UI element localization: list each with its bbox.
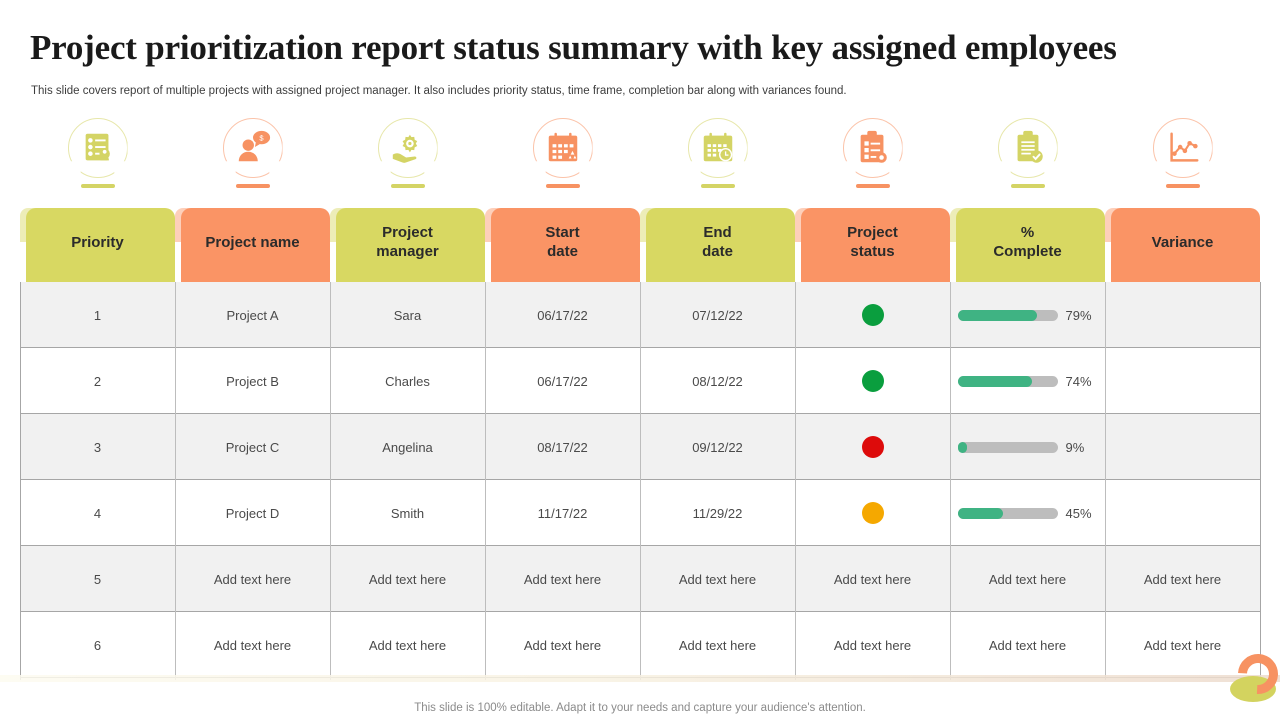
cell-project-name: Add text here <box>175 546 330 612</box>
cell-percent-complete: Add text here <box>950 546 1105 612</box>
gear-in-hand-icon <box>389 129 427 167</box>
icon-cell-7 <box>950 118 1105 200</box>
cell-percent-complete: 45% <box>950 480 1105 546</box>
icon-cell-1 <box>20 118 175 200</box>
line-chart-icon <box>1164 129 1202 167</box>
column-divider <box>640 282 641 680</box>
document-list-icon-circle <box>68 118 128 178</box>
column-header-label: Priority <box>65 234 130 253</box>
status-dot-amber <box>862 502 884 524</box>
cell-variance <box>1105 282 1260 348</box>
cell-percent-complete: 79% <box>950 282 1105 348</box>
cell-project-name: Project A <box>175 282 330 348</box>
cell-start-date: 06/17/22 <box>485 282 640 348</box>
icon-cell-6 <box>795 118 950 200</box>
slide-root: Project prioritization report status sum… <box>0 0 1280 720</box>
icon-underline-bar <box>856 184 890 188</box>
clipboard-approved-icon <box>1009 129 1047 167</box>
column-header-label: Variance <box>1146 234 1220 253</box>
cell-variance <box>1105 414 1260 480</box>
column-header-label: Project name <box>199 234 305 253</box>
cell-start-date: 08/17/22 <box>485 414 640 480</box>
icon-cell-4 <box>485 118 640 200</box>
calendar-clock-icon-circle <box>688 118 748 178</box>
column-header-label: Project status <box>841 224 904 262</box>
cell-priority: 6 <box>20 612 175 678</box>
calendar-clock-icon <box>699 129 737 167</box>
cell-priority: 1 <box>20 282 175 348</box>
column-header-5[interactable]: End date <box>640 204 795 282</box>
column-divider <box>1260 282 1261 680</box>
page-subtitle: This slide covers report of multiple pro… <box>31 85 1251 97</box>
document-list-icon <box>79 129 117 167</box>
calendar-icon-circle <box>533 118 593 178</box>
cell-project-status <box>795 480 950 546</box>
cell-variance <box>1105 480 1260 546</box>
cell-start-date: 11/17/22 <box>485 480 640 546</box>
progress-bar-fill <box>958 442 967 453</box>
icon-underline-bar <box>391 184 425 188</box>
progress-bar-fill <box>958 310 1037 321</box>
status-dot-green <box>862 370 884 392</box>
progress-bar-track <box>958 508 1058 519</box>
column-header-label: Start date <box>539 224 585 262</box>
cell-priority: 4 <box>20 480 175 546</box>
table-body: 1Project ASara06/17/2207/12/2279%2Projec… <box>20 282 1260 680</box>
icon-underline-bar <box>1011 184 1045 188</box>
icon-underline-bar <box>81 184 115 188</box>
cell-priority: 3 <box>20 414 175 480</box>
column-header-3[interactable]: Project manager <box>330 204 485 282</box>
cell-project-manager: Add text here <box>330 612 485 678</box>
cell-project-name: Project C <box>175 414 330 480</box>
progress-bar-group: 45% <box>958 506 1098 521</box>
clipboard-approved-icon-circle <box>998 118 1058 178</box>
column-header-2[interactable]: Project name <box>175 204 330 282</box>
progress-bar-percent-label: 74% <box>1066 374 1098 389</box>
cell-project-manager: Charles <box>330 348 485 414</box>
cell-percent-complete: 74% <box>950 348 1105 414</box>
cell-project-manager: Smith <box>330 480 485 546</box>
cell-percent-complete: 9% <box>950 414 1105 480</box>
line-chart-icon-circle <box>1153 118 1213 178</box>
column-divider <box>175 282 176 680</box>
cell-project-name: Project D <box>175 480 330 546</box>
cell-start-date: 06/17/22 <box>485 348 640 414</box>
cell-end-date: 11/29/22 <box>640 480 795 546</box>
bottom-band-decoration <box>0 675 1280 682</box>
icon-cell-8 <box>1105 118 1260 200</box>
cell-project-status <box>795 348 950 414</box>
cell-priority: 5 <box>20 546 175 612</box>
cell-start-date: Add text here <box>485 546 640 612</box>
gear-in-hand-icon-circle <box>378 118 438 178</box>
progress-bar-group: 74% <box>958 374 1098 389</box>
cell-project-manager: Sara <box>330 282 485 348</box>
progress-bar-fill <box>958 508 1003 519</box>
cell-project-name: Project B <box>175 348 330 414</box>
cell-end-date: 08/12/22 <box>640 348 795 414</box>
progress-bar-percent-label: 45% <box>1066 506 1098 521</box>
table-header-row: PriorityProject nameProject managerStart… <box>20 204 1260 282</box>
cell-project-name: Add text here <box>175 612 330 678</box>
column-header-6[interactable]: Project status <box>795 204 950 282</box>
cell-project-status <box>795 414 950 480</box>
icon-cell-2: $ <box>175 118 330 200</box>
icon-underline-bar <box>546 184 580 188</box>
icon-cell-5 <box>640 118 795 200</box>
progress-bar-group: 9% <box>958 440 1098 455</box>
column-divider <box>485 282 486 680</box>
column-header-label: % Complete <box>987 224 1067 262</box>
cell-variance: Add text here <box>1105 612 1260 678</box>
icon-underline-bar <box>1166 184 1200 188</box>
icon-underline-bar <box>701 184 735 188</box>
cell-project-manager: Angelina <box>330 414 485 480</box>
icon-cell-3 <box>330 118 485 200</box>
status-dot-red <box>862 436 884 458</box>
cell-end-date: 09/12/22 <box>640 414 795 480</box>
column-header-1[interactable]: Priority <box>20 204 175 282</box>
cell-variance <box>1105 348 1260 414</box>
cell-end-date: Add text here <box>640 612 795 678</box>
cell-project-status: Add text here <box>795 612 950 678</box>
column-header-4[interactable]: Start date <box>485 204 640 282</box>
column-divider <box>1105 282 1106 680</box>
icon-underline-bar <box>236 184 270 188</box>
column-header-7[interactable]: % Complete <box>950 204 1105 282</box>
slide-footer-note: This slide is 100% editable. Adapt it to… <box>0 702 1280 714</box>
progress-bar-percent-label: 9% <box>1066 440 1098 455</box>
cell-end-date: 07/12/22 <box>640 282 795 348</box>
cell-priority: 2 <box>20 348 175 414</box>
person-idea-icon: $ <box>234 129 272 167</box>
status-dot-green <box>862 304 884 326</box>
page-title: Project prioritization report status sum… <box>30 28 1250 68</box>
progress-bar-fill <box>958 376 1032 387</box>
progress-bar-track <box>958 442 1058 453</box>
svg-text:$: $ <box>259 133 264 142</box>
person-idea-icon-circle: $ <box>223 118 283 178</box>
column-divider <box>20 282 21 680</box>
column-divider <box>330 282 331 680</box>
column-divider <box>950 282 951 680</box>
progress-bar-group: 79% <box>958 308 1098 323</box>
column-header-label: Project manager <box>370 224 445 262</box>
column-header-8[interactable]: Variance <box>1105 204 1260 282</box>
cell-project-manager: Add text here <box>330 546 485 612</box>
progress-bar-percent-label: 79% <box>1066 308 1098 323</box>
cell-end-date: Add text here <box>640 546 795 612</box>
cell-variance: Add text here <box>1105 546 1260 612</box>
cell-percent-complete: Add text here <box>950 612 1105 678</box>
column-header-label: End date <box>696 224 739 262</box>
clipboard-checklist-icon-circle <box>843 118 903 178</box>
cell-project-status: Add text here <box>795 546 950 612</box>
clipboard-checklist-icon <box>854 129 892 167</box>
progress-bar-track <box>958 376 1058 387</box>
cell-project-status <box>795 282 950 348</box>
column-divider <box>795 282 796 680</box>
progress-bar-track <box>958 310 1058 321</box>
calendar-icon <box>544 129 582 167</box>
icon-row: $ <box>20 118 1260 200</box>
cell-start-date: Add text here <box>485 612 640 678</box>
